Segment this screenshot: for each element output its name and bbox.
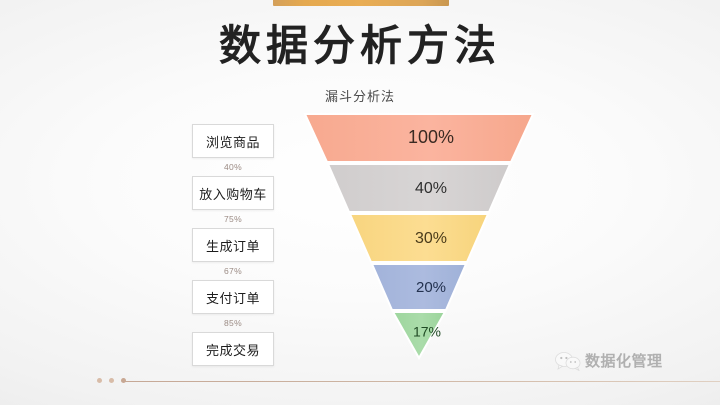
step-box-5[interactable]: 完成交易 — [192, 332, 274, 366]
step-box-3[interactable]: 生成订单 — [192, 228, 274, 262]
step-conversion-rate-3: 67% — [192, 262, 274, 280]
list-item: 生成订单 67% — [192, 228, 274, 280]
list-item: 放入购物车 75% — [192, 176, 274, 228]
funnel-chart-svg: 100% 40% 30% 20% 17% — [303, 112, 535, 360]
title-accent-bar — [273, 0, 449, 6]
decoration-dot-2 — [109, 378, 114, 383]
funnel-chart: 100% 40% 30% 20% 17% — [303, 112, 535, 360]
step-label: 完成交易 — [206, 340, 260, 359]
watermark: 数据化管理 — [555, 350, 663, 371]
funnel-value-label-1: 100% — [408, 127, 454, 147]
wechat-icon — [555, 351, 581, 371]
watermark-text: 数据化管理 — [585, 350, 663, 371]
funnel-value-label-3: 30% — [415, 230, 447, 247]
step-label: 放入购物车 — [199, 184, 267, 203]
step-label: 生成订单 — [206, 236, 260, 255]
bottom-divider — [122, 381, 720, 382]
list-item: 浏览商品 40% — [192, 124, 274, 176]
step-box-1[interactable]: 浏览商品 — [192, 124, 274, 158]
step-box-2[interactable]: 放入购物车 — [192, 176, 274, 210]
step-conversion-rate-1: 40% — [192, 158, 274, 176]
funnel-value-label-5: 17% — [413, 324, 441, 340]
slide-canvas: 数据分析方法 漏斗分析法 浏览商品 40% 放入购物车 75% 生成订单 67%… — [0, 0, 720, 405]
funnel-value-label-4: 20% — [416, 279, 446, 296]
step-label: 浏览商品 — [206, 132, 260, 151]
step-conversion-rate-2: 75% — [192, 210, 274, 228]
step-label: 支付订单 — [206, 288, 260, 307]
step-conversion-rate-4: 85% — [192, 314, 274, 332]
page-title: 数据分析方法 — [0, 24, 720, 68]
page-subtitle: 漏斗分析法 — [0, 86, 720, 105]
funnel-step-list: 浏览商品 40% 放入购物车 75% 生成订单 67% 支付订单 85% 完成交… — [192, 124, 274, 384]
step-box-4[interactable]: 支付订单 — [192, 280, 274, 314]
list-item: 支付订单 85% — [192, 280, 274, 332]
list-item: 完成交易 — [192, 332, 274, 384]
funnel-value-label-2: 40% — [415, 180, 447, 197]
decoration-dot-1 — [97, 378, 102, 383]
